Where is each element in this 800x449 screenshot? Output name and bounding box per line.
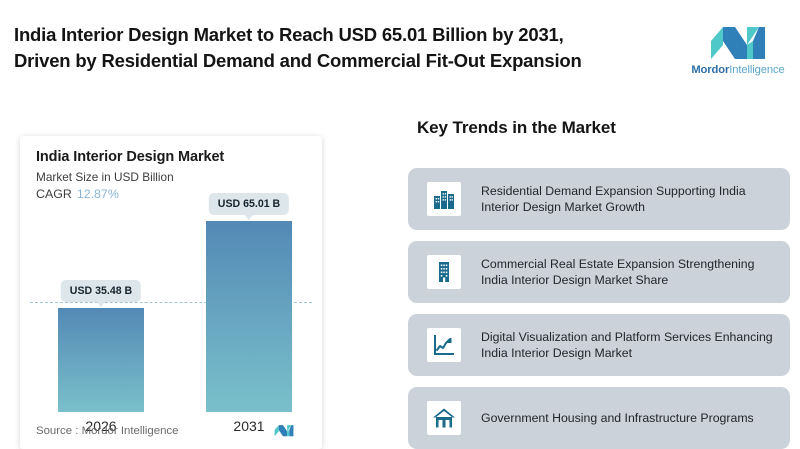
trend-text: Government Housing and Infrastructure Pr… [481,410,754,427]
line-chart-growth-icon [427,328,461,362]
brand-name-light: Intelligence [729,64,784,76]
trend-text: Digital Visualization and Platform Servi… [481,329,778,362]
brand-name-bold: Mordor [691,64,729,76]
bar-label-2026: USD 35.48 B [61,280,141,302]
chart-card: India Interior Design Market Market Size… [20,136,322,449]
brand-logo: MordorIntelligence [684,7,792,89]
chart-title: India Interior Design Market [36,149,224,165]
chart-plot-area: USD 35.48 B USD 65.01 B [20,212,322,412]
mordor-m-mark-icon [272,423,296,437]
bar-fill-2026 [58,308,144,412]
chart-source: Source : Mordor Intelligence [36,425,178,437]
trends-heading: Key Trends in the Market [417,118,616,138]
chart-cagr: CAGR12.87% [36,187,119,201]
house-icon [427,401,461,435]
cagr-label: CAGR [36,187,72,201]
mordor-m-mark-icon [709,21,767,61]
trend-text: Commercial Real Estate Expansion Strengt… [481,256,778,289]
headline-line-1: India Interior Design Market to Reach US… [14,22,674,48]
city-buildings-icon [427,182,461,216]
bar-label-2031: USD 65.01 B [209,193,289,215]
trend-card-commercial-real-estate[interactable]: Commercial Real Estate Expansion Strengt… [408,241,790,303]
infographic-page: India Interior Design Market to Reach US… [0,0,800,449]
trend-text: Residential Demand Expansion Supporting … [481,183,778,216]
bar-fill-2031 [206,221,292,412]
cagr-value: 12.87% [77,187,119,201]
trend-card-digital-visualization[interactable]: Digital Visualization and Platform Servi… [408,314,790,376]
chart-subtitle: Market Size in USD Billion [36,170,174,184]
trends-list: Residential Demand Expansion Supporting … [408,168,790,449]
page-title: India Interior Design Market to Reach US… [14,22,674,74]
trend-card-residential-demand[interactable]: Residential Demand Expansion Supporting … [408,168,790,230]
office-building-icon [427,255,461,289]
brand-wordmark: MordorIntelligence [691,64,784,76]
trend-card-government-housing[interactable]: Government Housing and Infrastructure Pr… [408,387,790,449]
headline-line-2: Driven by Residential Demand and Commerc… [14,48,674,74]
